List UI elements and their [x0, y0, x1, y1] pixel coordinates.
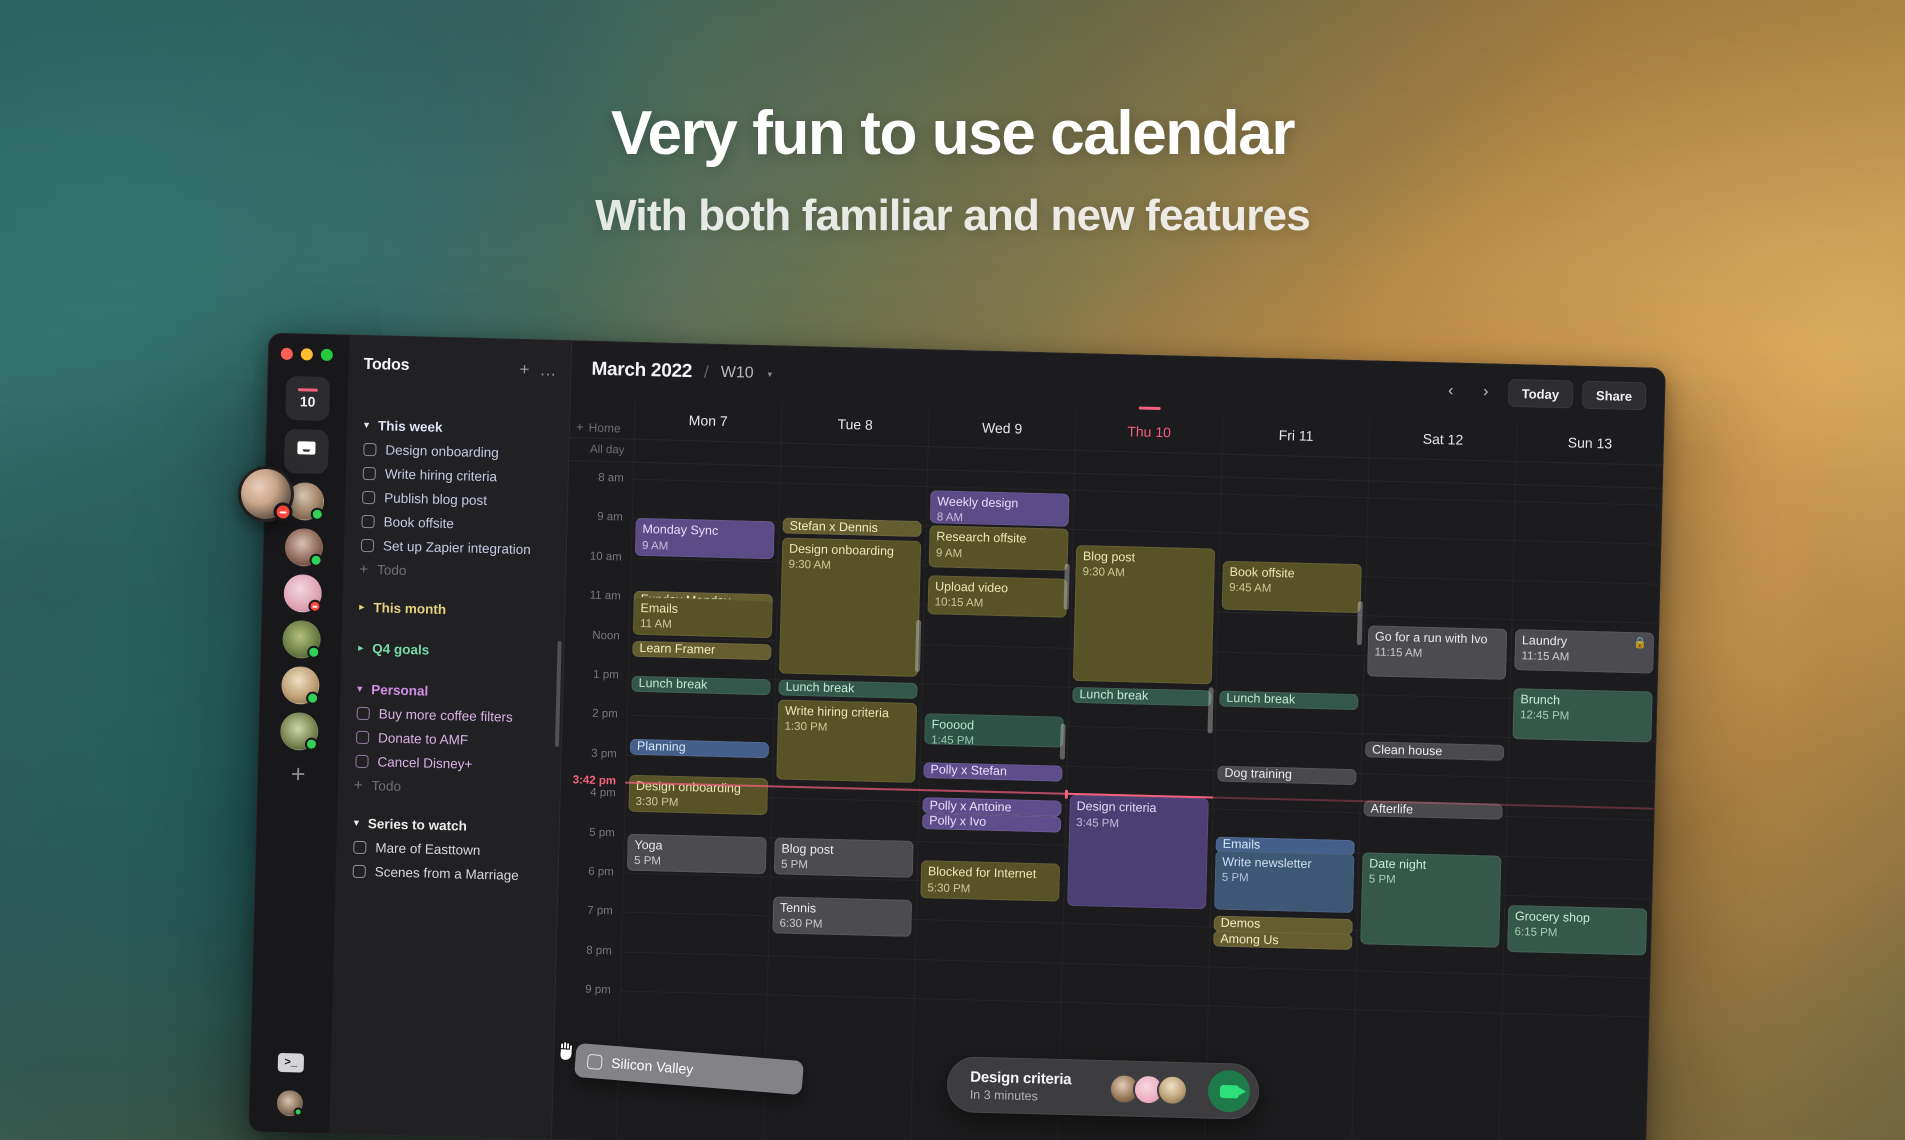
todo-group: ▼Series to watchMare of EasttownScenes f… — [350, 812, 559, 888]
calendar-event[interactable]: Brunch12:45 PM — [1512, 688, 1652, 743]
hour-gridline — [1505, 895, 1651, 900]
day-header-mon-7[interactable]: Mon 7 — [634, 399, 782, 443]
event-time: 11:15 AM — [1521, 650, 1646, 667]
hour-gridline — [1062, 1002, 1208, 1007]
all-day-cell[interactable] — [927, 447, 1075, 473]
checkbox-icon[interactable] — [361, 538, 374, 551]
add-todo-row[interactable]: +Todo — [353, 773, 561, 803]
event-title: Research offsite — [936, 530, 1061, 548]
event-time: 11 AM — [640, 617, 765, 634]
hour-gridline — [1506, 856, 1652, 861]
checkbox-icon[interactable] — [355, 754, 368, 767]
hour-label: 1 pm — [593, 669, 619, 682]
day-column-sun-13[interactable]: Laundry11:15 AM🔒Brunch12:45 PMGrocery sh… — [1498, 485, 1662, 1140]
upcoming-event-toast[interactable]: Design criteria In 3 minutes — [946, 1056, 1259, 1120]
todo-group-label: This week — [378, 418, 443, 435]
todo-group: ▼This weekDesign onboardingWrite hiring … — [358, 414, 569, 587]
avatar[interactable] — [283, 574, 322, 613]
toast-title: Design criteria — [970, 1068, 1102, 1088]
status-indicator — [307, 646, 320, 659]
calendar-event[interactable]: Polly x Stefan — [923, 762, 1062, 782]
hour-label: 9 am — [597, 511, 623, 524]
toast-attendee-avatars — [1116, 1073, 1189, 1106]
column-scrollbar[interactable] — [1060, 724, 1066, 760]
event-time: 6:30 PM — [779, 917, 904, 934]
window-traffic-lights — [281, 348, 333, 361]
lock-icon: 🔒 — [1633, 637, 1647, 651]
event-title: Date night — [1369, 856, 1494, 874]
hour-gridline — [1209, 1006, 1355, 1011]
rail-inbox-tile[interactable] — [284, 429, 329, 474]
event-title: Stefan x Dennis — [789, 519, 878, 536]
hour-gridline — [1063, 963, 1209, 968]
hero-subtitle: With both familiar and new features — [0, 191, 1905, 241]
day-column-sat-12[interactable]: Go for a run with Ivo11:15 AMClean house… — [1351, 481, 1515, 1140]
todo-item-label: Buy more coffee filters — [379, 706, 513, 724]
calendar-event[interactable]: Lunch break — [1072, 687, 1211, 707]
calendar-event[interactable]: Lunch break — [778, 679, 917, 699]
hour-gridline — [1069, 726, 1215, 731]
calendar-toolbar-right: ‹ › Today Share — [1437, 377, 1646, 410]
event-title: Fooood — [931, 717, 1056, 735]
hour-gridline — [1356, 1009, 1502, 1014]
day-header-label: Sun 13 — [1568, 434, 1613, 451]
day-header-thu-10[interactable]: Thu 10 — [1075, 410, 1223, 454]
calendar-event[interactable]: Tennis6:30 PM — [772, 896, 912, 937]
previous-week-button[interactable]: ‹ — [1437, 378, 1464, 405]
day-header-label: Tue 8 — [837, 416, 873, 433]
event-time: 9:45 AM — [1229, 581, 1354, 598]
hour-gridline — [915, 998, 1061, 1003]
hour-gridline — [1214, 809, 1360, 814]
todo-group-label: Personal — [371, 682, 428, 698]
calendar-month-label[interactable]: March 2022 — [591, 359, 692, 384]
status-indicator — [305, 738, 318, 751]
hour-gridline — [1222, 494, 1368, 499]
event-title: Design criteria — [1076, 799, 1201, 817]
event-time: 5 PM — [634, 854, 759, 871]
day-header-tue-8[interactable]: Tue 8 — [781, 402, 929, 446]
hour-label: 5 pm — [589, 826, 615, 839]
event-title: Design onboarding — [636, 778, 761, 796]
avatar[interactable] — [277, 1090, 304, 1117]
avatar[interactable] — [281, 666, 320, 705]
avatar[interactable] — [280, 712, 319, 751]
event-title: Planning — [637, 739, 686, 755]
all-day-cell[interactable] — [1221, 455, 1369, 481]
calendar-event[interactable]: Lunch break — [1219, 691, 1358, 711]
status-indicator — [308, 600, 321, 613]
close-window-button[interactable] — [281, 348, 293, 360]
event-title: Lunch break — [638, 676, 707, 693]
day-column-thu-10[interactable]: Blog post9:30 AMLunch breakDesign criter… — [1057, 474, 1221, 1140]
hour-gridline — [623, 912, 769, 917]
hour-label: 8 pm — [586, 944, 612, 957]
hour-label: 9 pm — [585, 984, 611, 997]
day-header-sat-12[interactable]: Sat 12 — [1369, 417, 1517, 461]
hour-gridline — [1503, 974, 1649, 979]
share-button[interactable]: Share — [1582, 381, 1647, 411]
calendar-event[interactable]: Learn Framer — [632, 640, 771, 660]
status-indicator — [309, 554, 322, 567]
event-title: Polly x Ivo — [929, 814, 986, 831]
calendar-event[interactable]: Dog training — [1217, 765, 1356, 785]
hour-gridline — [1513, 580, 1659, 585]
todo-group: ▼This month — [357, 596, 565, 624]
chevron-down-icon[interactable]: ▾ — [767, 369, 772, 380]
event-title: Write hiring criteria — [785, 703, 910, 721]
hour-gridline — [1508, 777, 1654, 782]
calendar-event[interactable]: Monday Sync9 AM — [635, 518, 775, 559]
hour-gridline — [769, 955, 915, 960]
hour-label: Noon — [592, 629, 620, 642]
hour-gridline — [1075, 490, 1221, 495]
toast-text: Design criteria In 3 minutes — [970, 1068, 1103, 1104]
day-header-label: Sat 12 — [1423, 431, 1464, 448]
hour-gridline — [923, 683, 1069, 688]
checkbox-icon[interactable] — [361, 514, 374, 527]
event-title: Blog post — [1083, 549, 1208, 567]
todo-item-label: Cancel Disney+ — [377, 754, 472, 771]
avatar[interactable] — [237, 465, 294, 522]
hour-gridline — [1210, 966, 1356, 971]
hour-gridline — [919, 841, 1065, 846]
column-scrollbar[interactable] — [1208, 687, 1214, 733]
calendar-event[interactable]: Laundry11:15 AM🔒 — [1514, 629, 1654, 674]
hour-gridline — [1502, 1013, 1648, 1018]
calendar-event[interactable]: Emails11 AM — [633, 597, 773, 638]
event-time: 8 AM — [937, 511, 1062, 528]
hour-gridline — [1362, 773, 1508, 778]
event-title: Lunch break — [785, 680, 854, 697]
day-column-fri-11[interactable]: Book offsite9:45 AMLunch breakDog traini… — [1204, 478, 1368, 1140]
day-header-label: Fri 11 — [1278, 427, 1313, 444]
day-column-mon-7[interactable]: Monday Sync9 AMFunday MondayEmails11 AML… — [616, 463, 780, 1140]
event-title: Blog post — [781, 841, 906, 859]
calendar-event[interactable]: Afterlife — [1363, 801, 1502, 821]
event-title: Clean house — [1372, 742, 1443, 759]
event-title: Monday Sync — [642, 522, 767, 540]
hour-label: 2 pm — [592, 708, 618, 721]
todos-sidebar: Todos + … ▼This weekDesign onboardingWri… — [330, 336, 572, 1139]
todo-group-header-q4-goals[interactable]: ▼Q4 goals — [356, 637, 564, 665]
day-header-label: Mon 7 — [689, 412, 728, 429]
calendar-event[interactable]: Fooood1:45 PM — [924, 713, 1064, 748]
hour-gridline — [1216, 730, 1362, 735]
video-camera-icon — [1219, 1084, 1238, 1097]
hour-gridline — [924, 644, 1070, 649]
todo-item-label: Design onboarding — [385, 442, 499, 460]
calendar-event[interactable]: Book offsite9:45 AM — [1222, 561, 1362, 614]
hour-gridline — [1369, 497, 1515, 502]
event-title: Book offsite — [1229, 565, 1354, 583]
caret-down-icon[interactable]: ▼ — [352, 819, 361, 828]
todo-item-label: Donate to AMF — [378, 730, 468, 747]
event-time: 5 PM — [1222, 871, 1347, 888]
add-todo-icon[interactable]: + — [519, 360, 529, 377]
event-title: Demos — [1221, 916, 1261, 932]
hour-label: 10 am — [590, 550, 622, 563]
calendar-event[interactable]: Clean house — [1365, 742, 1504, 762]
todo-item-label: Book offsite — [383, 514, 454, 531]
hour-gridline — [1512, 619, 1658, 624]
hour-gridline — [1357, 970, 1503, 975]
checkbox-icon[interactable] — [356, 730, 369, 743]
add-todo-row[interactable]: +Todo — [358, 557, 566, 587]
calendar-event[interactable]: Date night5 PM — [1360, 852, 1501, 948]
calendar-grid: 3:42 pm 8 am9 am10 am11 amNoon1 pm2 pm3 … — [552, 461, 1662, 1140]
today-button[interactable]: Today — [1507, 379, 1573, 409]
hour-label: 4 pm — [590, 787, 616, 800]
event-time: 3:30 PM — [635, 795, 760, 812]
event-title: Dog training — [1224, 766, 1292, 783]
event-title: Grocery shop — [1515, 909, 1640, 927]
caret-right-icon[interactable]: ▼ — [356, 644, 365, 653]
calendar-week-label[interactable]: W10 — [720, 364, 753, 383]
checkbox-icon[interactable] — [353, 840, 366, 853]
day-column-tue-8[interactable]: Stefan x DennisDesign onboarding9:30 AML… — [763, 466, 927, 1140]
event-title: Weekly design — [937, 494, 1062, 512]
rail-bottom-section: >_ — [276, 1053, 304, 1133]
day-header-label: Thu 10 — [1127, 423, 1171, 440]
toast-subtitle: In 3 minutes — [970, 1087, 1102, 1104]
hour-gridline — [621, 991, 767, 996]
hour-gridline — [1364, 694, 1510, 699]
todo-group-label: Q4 goals — [372, 641, 429, 657]
hour-label: 6 pm — [588, 866, 614, 879]
calendar-app-window: 10 + >_ — [248, 332, 1666, 1140]
all-day-label: All day — [569, 438, 634, 462]
calendar-event[interactable]: Polly x Ivo — [922, 813, 1061, 833]
calendar-event[interactable]: Blog post9:30 AM — [1073, 545, 1215, 684]
checkbox-icon[interactable] — [353, 864, 366, 877]
event-time: 1:45 PM — [931, 733, 1056, 748]
event-time: 5 PM — [1369, 872, 1494, 889]
event-title: Polly x Stefan — [930, 763, 1007, 780]
checkbox-icon[interactable] — [357, 706, 370, 719]
event-title: Write newsletter — [1222, 854, 1347, 872]
event-time: 5 PM — [781, 857, 906, 874]
event-time: 6:15 PM — [1514, 925, 1639, 942]
grab-hand-icon — [555, 1039, 577, 1068]
event-time: 1:30 PM — [784, 720, 909, 737]
day-header-label: Wed 9 — [982, 420, 1023, 437]
event-title: Tennis — [780, 900, 905, 918]
event-time: 5:30 PM — [927, 881, 1052, 898]
todo-item[interactable]: Scenes from a Marriage — [350, 859, 558, 888]
all-day-cell[interactable] — [1368, 458, 1516, 484]
status-indicator — [311, 508, 324, 521]
hour-gridline — [628, 715, 774, 720]
todos-group-list: ▼This weekDesign onboardingWrite hiring … — [330, 387, 570, 1138]
hour-gridline — [622, 951, 768, 956]
day-header-wed-9[interactable]: Wed 9 — [928, 406, 1076, 450]
next-week-button[interactable]: › — [1472, 379, 1499, 406]
calendar-event[interactable]: Stefan x Dennis — [782, 518, 921, 538]
todo-group: ▼PersonalBuy more coffee filtersDonate t… — [353, 678, 563, 803]
caret-down-icon[interactable]: ▼ — [355, 685, 364, 694]
event-time: 9:30 AM — [1082, 566, 1207, 583]
calendar-icon-day: 10 — [300, 394, 316, 408]
add-todo-label: Todo — [371, 778, 401, 794]
event-time: 12:45 PM — [1520, 709, 1645, 726]
day-header-sun-13[interactable]: Sun 13 — [1515, 421, 1663, 465]
todo-item-label: Set up Zapier integration — [383, 538, 531, 557]
hour-gridline — [634, 479, 780, 484]
todos-header: Todos + … — [349, 342, 571, 394]
event-title: Design onboarding — [789, 542, 914, 560]
home-calendar-label[interactable]: Home — [588, 421, 620, 436]
avatar[interactable] — [1157, 1074, 1189, 1106]
hour-gridline — [1218, 651, 1364, 656]
hour-gridline — [1366, 615, 1512, 620]
hour-gridline — [1514, 540, 1660, 545]
event-title: Go for a run with Ivo — [1375, 630, 1500, 648]
checkbox-icon[interactable] — [363, 442, 376, 455]
hour-gridline — [1221, 533, 1367, 538]
calendar-event[interactable]: Blog post5 PM — [774, 837, 914, 878]
minimize-window-button[interactable] — [301, 348, 313, 360]
add-calendar-icon[interactable]: + — [576, 419, 584, 434]
hour-label: 11 am — [590, 590, 621, 603]
event-title: Brunch — [1520, 692, 1645, 710]
hero-text-block: Very fun to use calendar With both famil… — [0, 98, 1905, 241]
terminal-icon[interactable]: >_ — [278, 1053, 304, 1073]
todo-item-label: Write hiring criteria — [385, 466, 498, 484]
hour-gridline — [781, 482, 927, 487]
hour-gridline — [1507, 816, 1653, 821]
hour-gridline — [1064, 923, 1210, 928]
event-title: Laundry — [1522, 633, 1647, 651]
event-time: 9:30 AM — [788, 558, 913, 575]
calendar-event[interactable]: Write newsletter5 PM — [1214, 850, 1354, 913]
calendar-event[interactable]: Design onboarding3:30 PM — [628, 774, 768, 815]
calendar-pane: March 2022 / W10 ▾ ‹ › Today Share + Hom… — [552, 341, 1665, 1140]
all-day-cell[interactable] — [633, 440, 781, 466]
event-title: Among Us — [1220, 931, 1279, 948]
calendar-event[interactable]: Grocery shop6:15 PM — [1507, 905, 1647, 956]
todo-item-label: Publish blog post — [384, 490, 487, 508]
avatar[interactable] — [282, 620, 321, 659]
event-time: 9 AM — [642, 539, 767, 556]
all-day-cell[interactable] — [1515, 462, 1663, 488]
calendar-event[interactable]: Lunch break — [631, 676, 770, 696]
hour-gridline — [916, 959, 1062, 964]
calendar-event[interactable]: Design criteria3:45 PM — [1067, 795, 1209, 909]
join-call-button[interactable] — [1207, 1070, 1250, 1113]
event-time: 9 AM — [936, 546, 1061, 563]
todos-title: Todos — [363, 356, 509, 378]
event-time: 10:15 AM — [935, 595, 1060, 612]
hour-gridline — [768, 994, 914, 999]
calendar-event[interactable]: Go for a run with Ivo11:15 AM — [1367, 625, 1507, 680]
add-todo-label: Todo — [377, 562, 407, 578]
day-column-wed-9[interactable]: Weekly design8 AMResearch offsite9 AMUpl… — [910, 470, 1074, 1140]
event-title: Lunch break — [1079, 687, 1148, 704]
calendar-event[interactable]: Research offsite9 AM — [929, 526, 1069, 571]
hero-title: Very fun to use calendar — [0, 98, 1905, 169]
calendar-event[interactable]: Write hiring criteria1:30 PM — [776, 699, 917, 783]
checkbox-icon[interactable] — [362, 490, 375, 503]
checkbox-icon[interactable] — [363, 466, 376, 479]
inbox-icon — [295, 439, 318, 464]
hour-label: 7 pm — [587, 905, 613, 918]
rail-calendar-tile[interactable]: 10 — [285, 376, 330, 421]
all-day-cell[interactable] — [1074, 451, 1222, 477]
calendar-event[interactable]: Yoga5 PM — [627, 833, 767, 874]
event-title: Learn Framer — [639, 641, 715, 658]
calendar-icon-bar — [298, 388, 318, 392]
calendar-header-gutter: + Home — [570, 397, 635, 439]
event-title: Emails — [640, 601, 765, 619]
calendar-event[interactable]: Among Us — [1213, 931, 1352, 951]
todo-group-label: Series to watch — [368, 816, 467, 834]
hour-gridline — [1074, 529, 1220, 534]
status-indicator — [294, 1107, 303, 1116]
hour-label: 8 am — [598, 472, 624, 485]
hour-gridline — [1363, 734, 1509, 739]
checkbox-icon — [587, 1053, 603, 1069]
calendar-day-columns: Monday Sync9 AMFunday MondayEmails11 AML… — [616, 463, 1662, 1140]
todos-more-icon[interactable]: … — [539, 361, 556, 378]
todo-group-label: This month — [373, 600, 446, 617]
hour-gridline — [1515, 501, 1661, 506]
todo-group: ▼Q4 goals — [356, 637, 564, 665]
todo-item-label: Scenes from a Marriage — [375, 864, 519, 883]
todo-item-label: Mare of Easttown — [375, 840, 480, 858]
event-title: Afterlife — [1370, 801, 1413, 817]
hour-gridline — [1368, 537, 1514, 542]
status-indicator — [306, 692, 319, 705]
calendar-event[interactable]: Weekly design8 AM — [930, 490, 1070, 527]
calendar-title-separator: / — [704, 362, 709, 382]
plus-icon: + — [359, 562, 368, 577]
hour-gridline — [773, 798, 919, 803]
avatar[interactable] — [284, 528, 323, 567]
event-title: Yoga — [634, 837, 759, 855]
plus-icon: + — [354, 778, 363, 793]
event-title: Lunch break — [1226, 691, 1295, 708]
add-person-button[interactable]: + — [291, 762, 306, 787]
caret-down-icon[interactable]: ▼ — [362, 421, 371, 430]
caret-right-icon[interactable]: ▼ — [357, 603, 366, 612]
dragged-todo-label: Silicon Valley — [611, 1055, 694, 1078]
column-scrollbar[interactable] — [1357, 601, 1363, 645]
calendar-event[interactable]: Design onboarding9:30 AM — [779, 538, 921, 677]
day-header-fri-11[interactable]: Fri 11 — [1222, 414, 1370, 458]
all-day-cell[interactable] — [780, 443, 928, 469]
event-title: Blocked for Internet — [928, 865, 1053, 883]
hour-label: 3 pm — [591, 748, 617, 761]
hour-gridline — [1068, 766, 1214, 771]
hour-gridline — [1367, 576, 1513, 581]
current-time-label: 3:42 pm — [572, 775, 616, 788]
column-scrollbar[interactable] — [1064, 564, 1070, 610]
event-time: 11:15 AM — [1374, 646, 1499, 663]
column-scrollbar[interactable] — [915, 620, 921, 672]
hour-gridline — [917, 919, 1063, 924]
event-title: Upload video — [935, 579, 1060, 597]
event-time: 3:45 PM — [1076, 816, 1201, 833]
calendar-event[interactable]: Blocked for Internet5:30 PM — [920, 860, 1060, 901]
calendar-event[interactable]: Upload video10:15 AM — [927, 575, 1067, 618]
today-marker — [1139, 406, 1161, 410]
todo-group-header-this-month[interactable]: ▼This month — [357, 596, 565, 624]
maximize-window-button[interactable] — [321, 349, 333, 361]
